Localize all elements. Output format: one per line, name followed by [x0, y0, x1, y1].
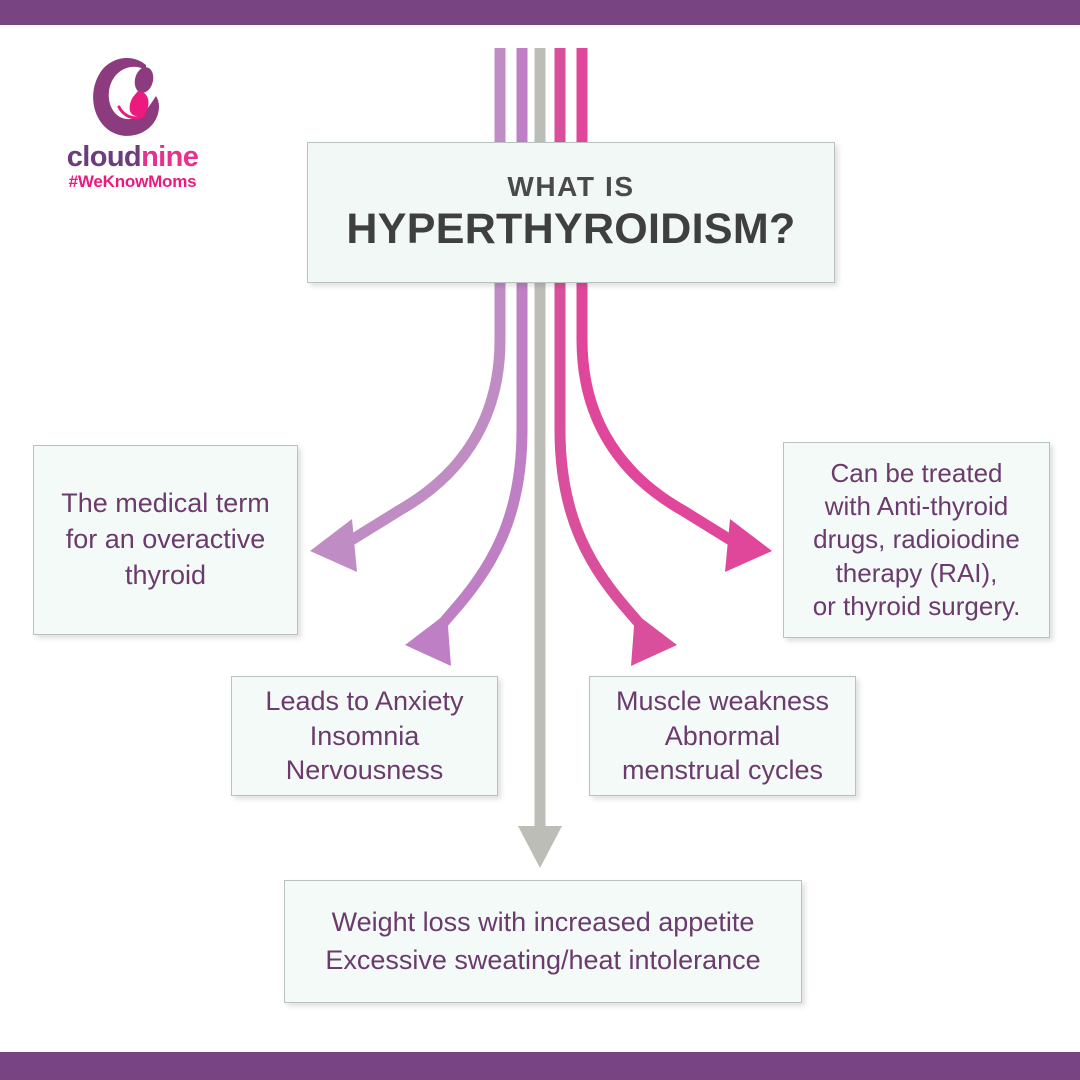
arrow-to-left-box: [310, 48, 500, 572]
brand-logo[interactable]: cloudnine #WeKnowMoms: [40, 55, 225, 190]
infographic-canvas: cloudnine #WeKnowMoms WHAT IS HYPERTHYRO…: [0, 0, 1080, 1080]
logo-wordmark: cloudnine: [40, 143, 225, 172]
info-box-mental-symptoms-text: Leads to AnxietyInsomniaNervousness: [232, 684, 497, 788]
info-box-definition: The medical termfor an overactivethyroid: [33, 445, 298, 635]
logo-word-nine: nine: [141, 141, 198, 173]
logo-word-cloud: cloud: [67, 141, 141, 173]
info-box-treatment: Can be treatedwith Anti-thyroiddrugs, ra…: [783, 442, 1050, 638]
info-box-physical-symptoms-text: Muscle weaknessAbnormalmenstrual cycles: [590, 684, 855, 788]
info-box-physical-symptoms: Muscle weaknessAbnormalmenstrual cycles: [589, 676, 856, 796]
cloudnine-c-monogram-icon: [88, 55, 168, 140]
title-card: WHAT IS HYPERTHYROIDISM?: [307, 142, 835, 283]
info-box-mental-symptoms: Leads to AnxietyInsomniaNervousness: [231, 676, 498, 796]
info-box-metabolic-symptoms: Weight loss with increased appetiteExces…: [284, 880, 802, 1003]
info-box-metabolic-symptoms-text: Weight loss with increased appetiteExces…: [285, 904, 801, 980]
info-box-treatment-text: Can be treatedwith Anti-thyroiddrugs, ra…: [784, 457, 1049, 622]
page-title: HYPERTHYROIDISM?: [346, 205, 795, 254]
arrow-to-right-box: [582, 48, 772, 572]
logo-tagline: #WeKnowMoms: [40, 173, 225, 190]
page-title-eyebrow: WHAT IS: [507, 171, 634, 203]
info-box-definition-text: The medical termfor an overactivethyroid: [34, 486, 297, 594]
